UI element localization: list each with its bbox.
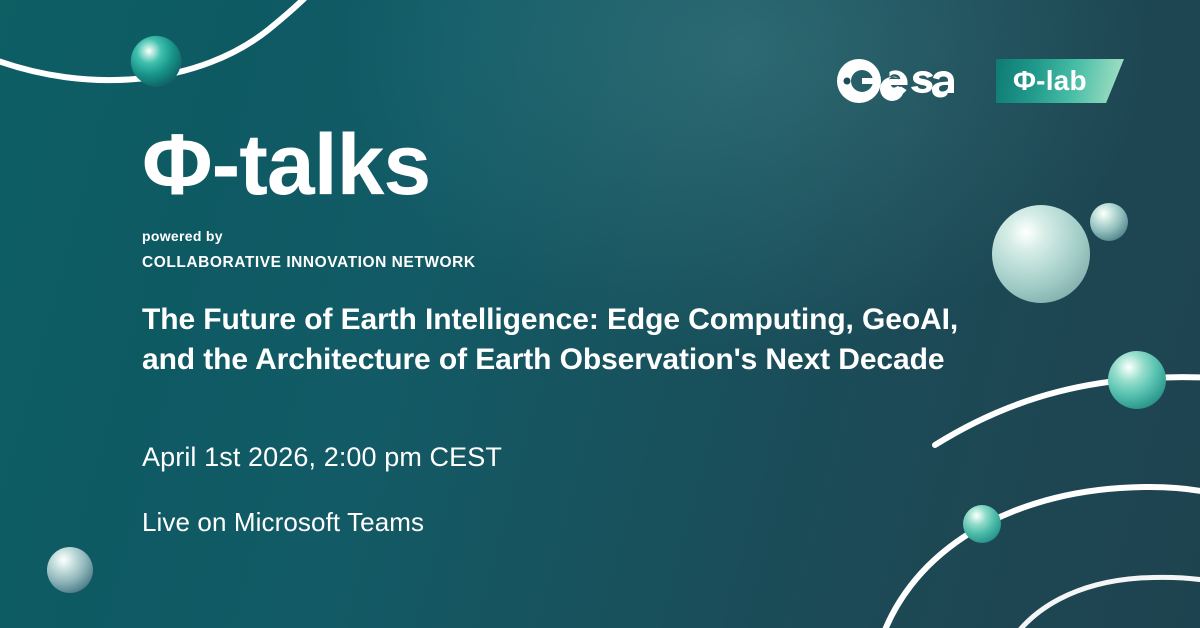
network-name-label: COLLABORATIVE INNOVATION NETWORK bbox=[142, 254, 476, 272]
philab-badge-label: Φ-lab bbox=[996, 67, 1087, 95]
powered-by-label: powered by bbox=[142, 228, 223, 244]
event-date: April 1st 2026, 2:00 pm CEST bbox=[142, 443, 502, 473]
talk-title: The Future of Earth Intelligence: Edge C… bbox=[142, 300, 972, 380]
esa-logo bbox=[836, 58, 974, 104]
philab-badge: Φ-lab bbox=[996, 59, 1124, 103]
event-platform: Live on Microsoft Teams bbox=[142, 508, 424, 537]
brand-lockup: Φ-lab bbox=[836, 58, 1124, 104]
event-banner: Φ-lab Φ-talks powered by COLLABORATIVE I… bbox=[0, 0, 1200, 628]
phi-talks-wordmark: Φ-talks bbox=[142, 122, 430, 208]
banner-content: Φ-lab Φ-talks powered by COLLABORATIVE I… bbox=[0, 0, 1200, 628]
